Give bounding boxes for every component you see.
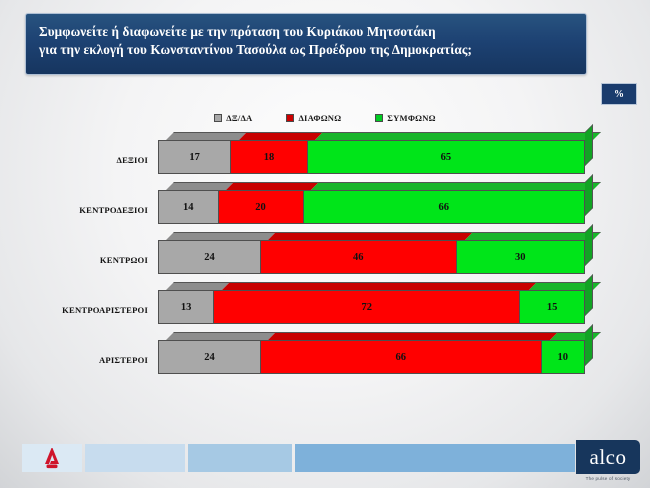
bar-segment[interactable]: 24 xyxy=(159,341,261,373)
bar-side-face xyxy=(585,124,593,166)
bar-segment-value: 66 xyxy=(439,202,450,213)
bar-segment-value: 24 xyxy=(204,352,215,363)
bar-segment[interactable]: 13 xyxy=(159,291,214,323)
category-label: ΔΕΞΙΟΙ xyxy=(0,155,148,165)
bar-segment[interactable]: 66 xyxy=(304,191,585,223)
alco-logo-text: alco xyxy=(590,447,627,468)
category-label: ΚΕΝΤΡΩΟΙ xyxy=(0,255,148,265)
bar-side-face xyxy=(585,324,593,366)
bar-segment[interactable]: 72 xyxy=(214,291,520,323)
bar-segment[interactable]: 46 xyxy=(261,241,457,273)
bar-segment-value: 13 xyxy=(181,302,192,313)
chart-row: ΚΕΝΤΡΩΟΙ244630 xyxy=(0,232,650,282)
stacked-bar: 142066 xyxy=(158,190,585,224)
footer: alco The pulse of society xyxy=(0,428,650,488)
chart-row: ΚΕΝΤΡΟΑΡΙΣΤΕΡΟΙ137215 xyxy=(0,282,650,332)
legend-label: ΣΥΜΦΩΝΩ xyxy=(387,113,435,123)
footer-strip-cell-1 xyxy=(85,444,185,472)
legend-label: ΔΞ/ΔΑ xyxy=(226,113,252,123)
bar-segment[interactable]: 10 xyxy=(542,341,585,373)
legend-swatch-icon xyxy=(214,114,222,122)
bar-segment-value: 14 xyxy=(183,202,194,213)
page-title-line-1: Συμφωνείτε ή διαφωνείτε με την πρόταση τ… xyxy=(39,23,578,41)
bar-segment-value: 66 xyxy=(396,352,407,363)
page-title-line-2: για την εκλογή του Κωνσταντίνου Τασούλα … xyxy=(39,41,578,59)
legend-item[interactable]: ΔΞ/ΔΑ xyxy=(214,113,252,123)
footer-strip-cell-3 xyxy=(295,444,575,472)
bar-segment-value: 24 xyxy=(204,252,215,263)
legend-swatch-icon xyxy=(375,114,383,122)
legend-item[interactable]: ΣΥΜΦΩΝΩ xyxy=(375,113,435,123)
page-title: Συμφωνείτε ή διαφωνείτε με την πρόταση τ… xyxy=(39,23,578,59)
bar-top-face xyxy=(166,232,601,240)
bar-front-face: 142066 xyxy=(158,190,585,224)
bar-segment[interactable]: 24 xyxy=(159,241,261,273)
bar-front-face: 137215 xyxy=(158,290,585,324)
bar-side-face xyxy=(585,224,593,266)
percent-unit-badge: % xyxy=(601,83,637,105)
bar-segment[interactable]: 15 xyxy=(520,291,584,323)
bar-segment[interactable]: 14 xyxy=(159,191,219,223)
category-label: ΚΕΝΤΡΟΑΡΙΣΤΕΡΟΙ xyxy=(0,305,148,315)
chart-row: ΚΕΝΤΡΟΔΕΞΙΟΙ142066 xyxy=(0,182,650,232)
bar-top-face xyxy=(166,182,601,190)
bar-segment-value: 17 xyxy=(189,152,200,163)
legend-item[interactable]: ΔΙΑΦΩΝΩ xyxy=(286,113,341,123)
bar-front-face: 246610 xyxy=(158,340,585,374)
category-label: ΑΡΙΣΤΕΡΟΙ xyxy=(0,355,148,365)
footer-mark-cell xyxy=(22,444,82,472)
footer-strip-cell-2 xyxy=(188,444,292,472)
bar-segment-value: 18 xyxy=(264,152,275,163)
alco-tagline: The pulse of society xyxy=(576,476,640,481)
bar-segment[interactable]: 66 xyxy=(261,341,542,373)
bar-segment-value: 30 xyxy=(515,252,526,263)
bar-side-face xyxy=(585,274,593,316)
chart-row: ΑΡΙΣΤΕΡΟΙ246610 xyxy=(0,332,650,382)
bar-segment-value: 72 xyxy=(362,302,373,313)
bar-segment-value: 46 xyxy=(353,252,364,263)
legend-label: ΔΙΑΦΩΝΩ xyxy=(298,113,341,123)
bar-top-face xyxy=(166,282,601,290)
legend-swatch-icon xyxy=(286,114,294,122)
chart-row: ΔΕΞΙΟΙ171865 xyxy=(0,132,650,182)
bar-top-face xyxy=(166,332,601,340)
category-label: ΚΕΝΤΡΟΔΕΞΙΟΙ xyxy=(0,205,148,215)
bar-front-face: 244630 xyxy=(158,240,585,274)
footer-color-strip xyxy=(22,444,575,472)
bar-segment[interactable]: 18 xyxy=(231,141,308,173)
bar-top-face xyxy=(166,132,601,140)
bar-segment-value: 20 xyxy=(255,202,266,213)
title-banner: Συμφωνείτε ή διαφωνείτε με την πρόταση τ… xyxy=(25,13,587,75)
stacked-bar-chart: ΔΕΞΙΟΙ171865ΚΕΝΤΡΟΔΕΞΙΟΙ142066ΚΕΝΤΡΩΟΙ24… xyxy=(0,132,650,394)
bar-segment-value: 65 xyxy=(441,152,452,163)
stacked-bar: 137215 xyxy=(158,290,585,324)
bar-segment-value: 15 xyxy=(547,302,558,313)
bar-segment[interactable]: 20 xyxy=(219,191,304,223)
chart-legend: ΔΞ/ΔΑΔΙΑΦΩΝΩΣΥΜΦΩΝΩ xyxy=(0,110,650,126)
bar-side-face xyxy=(585,174,593,216)
bar-front-face: 171865 xyxy=(158,140,585,174)
bar-segment[interactable]: 65 xyxy=(308,141,584,173)
stacked-bar: 244630 xyxy=(158,240,585,274)
bar-segment[interactable]: 17 xyxy=(159,141,231,173)
alco-logo-box: alco xyxy=(576,440,640,474)
stacked-bar: 171865 xyxy=(158,140,585,174)
stacked-bar: 246610 xyxy=(158,340,585,374)
alco-logo: alco The pulse of society xyxy=(576,440,640,481)
bar-segment-value: 10 xyxy=(558,352,569,363)
alco-a-mark-icon xyxy=(42,447,62,469)
bar-segment[interactable]: 30 xyxy=(457,241,585,273)
